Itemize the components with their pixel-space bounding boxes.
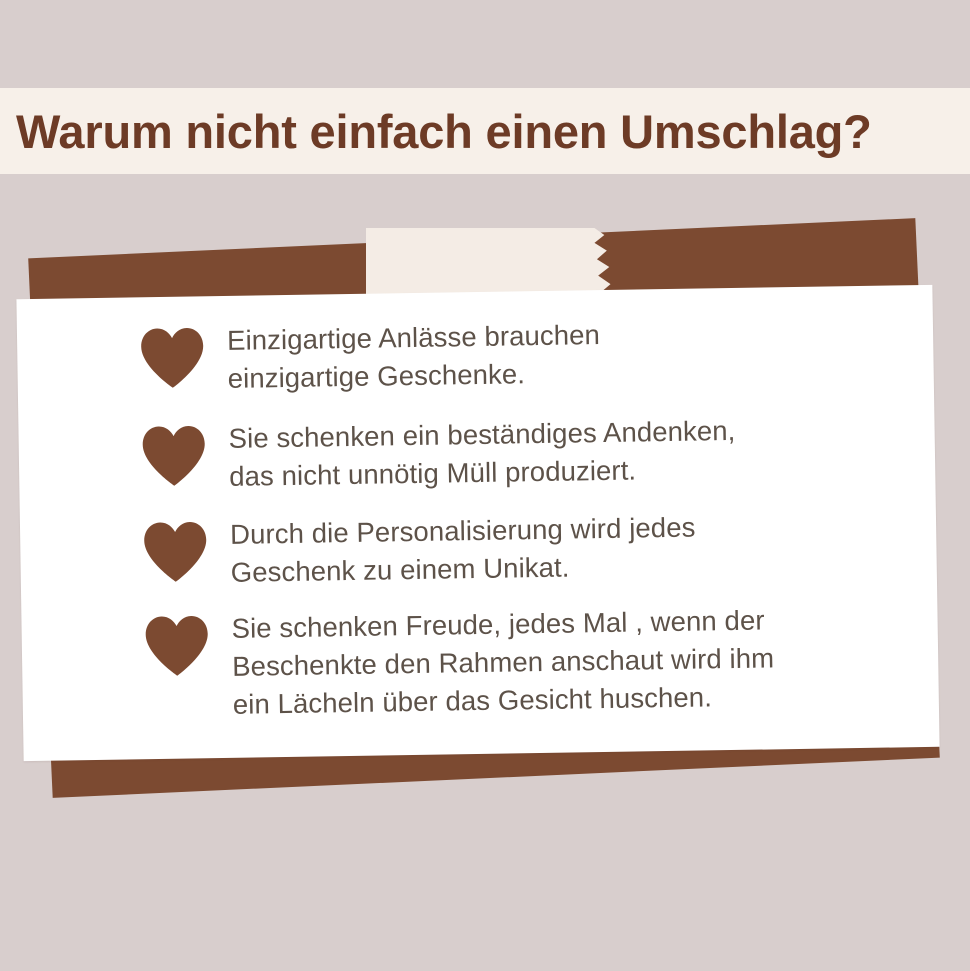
heart-icon bbox=[143, 614, 210, 677]
list-item: Durch die Personalisierung wird jedes Ge… bbox=[142, 503, 903, 593]
list-item: Einzigartige Anlässe brauchen einzigarti… bbox=[139, 309, 900, 399]
poster-canvas: Einzigartige Anlässe brauchen einzigarti… bbox=[0, 0, 970, 971]
list-item-label: Sie schenken ein beständiges Andenken, d… bbox=[228, 410, 736, 496]
page-title: Warum nicht einfach einen Umschlag? bbox=[16, 108, 872, 155]
heart-icon bbox=[140, 424, 207, 487]
benefits-list: Einzigartige Anlässe brauchen einzigarti… bbox=[139, 309, 905, 725]
heart-icon bbox=[142, 520, 209, 583]
headline-band: Warum nicht einfach einen Umschlag? bbox=[0, 88, 970, 174]
list-item-label: Einzigartige Anlässe brauchen einzigarti… bbox=[227, 314, 601, 398]
white-content-card: Einzigartige Anlässe brauchen einzigarti… bbox=[16, 285, 939, 761]
heart-icon bbox=[139, 326, 206, 389]
list-item-label: Sie schenken Freude, jedes Mal , wenn de… bbox=[231, 599, 775, 723]
list-item-label: Durch die Personalisierung wird jedes Ge… bbox=[230, 507, 696, 592]
list-item: Sie schenken ein beständiges Andenken, d… bbox=[140, 407, 901, 497]
list-item: Sie schenken Freude, jedes Mal , wenn de… bbox=[143, 597, 905, 725]
